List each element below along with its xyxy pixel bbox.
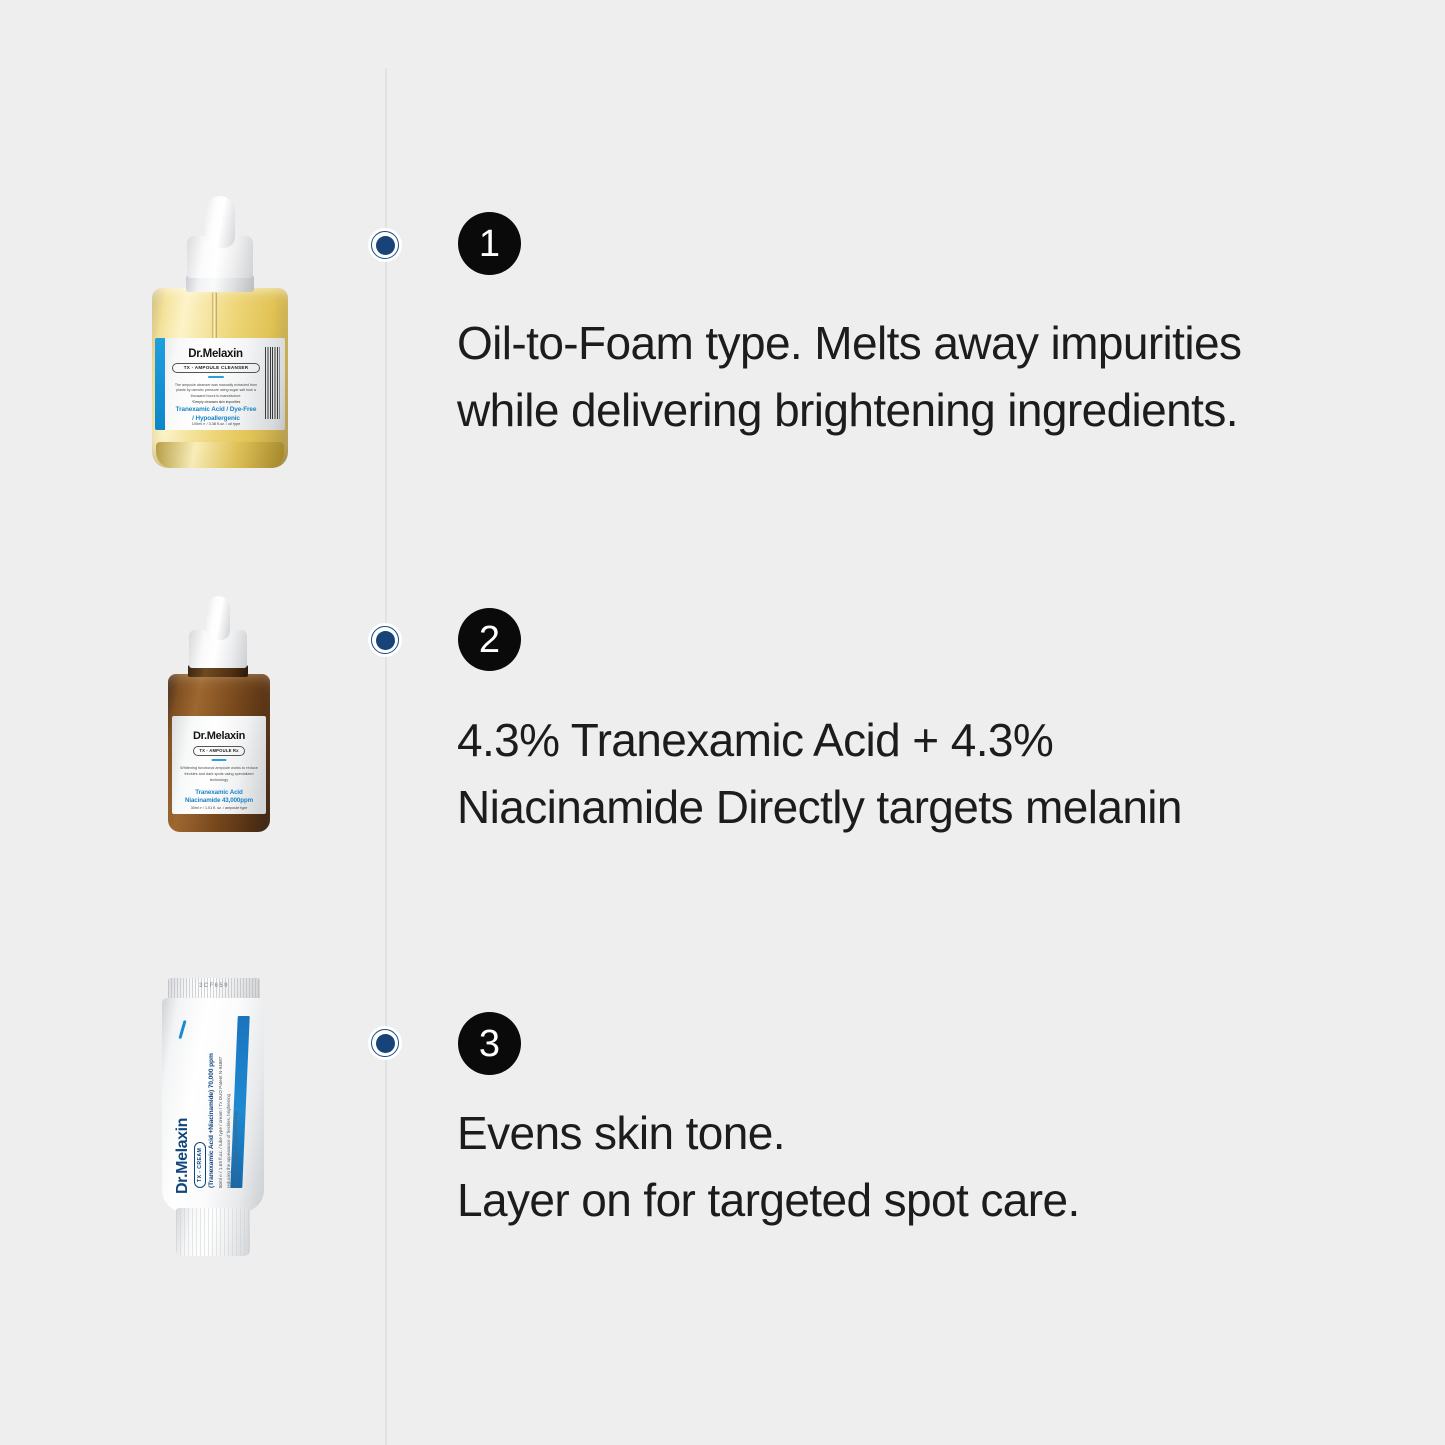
step-description-3: Evens skin tone. Layer on for targeted s… bbox=[457, 1100, 1317, 1233]
timeline-dot-step-2 bbox=[368, 623, 402, 657]
step-description-1: Oil-to-Foam type. Melts away impurities … bbox=[457, 310, 1317, 443]
label-volume: 100ml ℮ / 3.38 fl.oz. / oil type bbox=[171, 422, 261, 426]
tube-batch-code: 3CF659 bbox=[168, 983, 260, 989]
label-description: Whitening functional ampoule works to re… bbox=[180, 766, 258, 784]
label-brand: Dr.Melaxin bbox=[178, 730, 260, 742]
tube-slash-mark bbox=[178, 1020, 186, 1039]
label-claim: Tranexamic Acid Niacinamide 43,000ppm bbox=[177, 789, 261, 806]
product-image-tx-cream: 3CF659 Dr.Melaxin TX - CREAM (Tranexamic… bbox=[158, 978, 268, 1256]
timeline-dot-step-3 bbox=[368, 1026, 402, 1060]
tube-volume: 50ml ℮ / 1.69 fl.oz. / tube type / cream… bbox=[218, 1057, 223, 1188]
tube-product-type: TX - CREAM bbox=[194, 1142, 206, 1188]
timeline-track bbox=[385, 68, 387, 1445]
product-steps-infographic: 1 2 3 Oil-to-Foam type. Melts away impur… bbox=[0, 0, 1445, 1445]
product-label: Dr.Melaxin TX - AMPOULE Rx Whitening fun… bbox=[172, 716, 266, 814]
label-volume: 30ml ℮ / 1.01 fl. oz. / ampoule type bbox=[178, 806, 260, 810]
tube-description-line-1: reducing the appearance of freckles, bri… bbox=[226, 1094, 231, 1188]
tube-cap bbox=[176, 1208, 250, 1256]
label-claim: Tranexamic Acid / Dye-Free / Hypoallerge… bbox=[169, 406, 263, 423]
step-badge-1: 1 bbox=[458, 212, 521, 275]
product-image-tx-ampoule-cleanser: Dr.Melaxin TX - AMPOULE CLEANSER The amp… bbox=[146, 196, 294, 468]
label-brand: Dr.Melaxin bbox=[170, 348, 261, 360]
product-label: Dr.Melaxin TX - AMPOULE CLEANSER The amp… bbox=[155, 338, 285, 430]
step-badge-2: 2 bbox=[458, 608, 521, 671]
label-divider bbox=[212, 759, 227, 761]
tube-description-line-2: dark spots using specialized technology bbox=[233, 1111, 238, 1188]
label-footnote: *Deeply cleanses skin impurities bbox=[171, 400, 261, 404]
label-description: The ampoule cleanser was manually extrac… bbox=[171, 383, 261, 399]
label-product-type: TX - AMPOULE Rx bbox=[193, 746, 245, 756]
label-product-type: TX - AMPOULE CLEANSER bbox=[172, 363, 260, 373]
timeline-dot-core bbox=[376, 1034, 395, 1053]
timeline-dot-step-1 bbox=[368, 228, 402, 262]
label-blue-stripe bbox=[155, 338, 165, 430]
label-divider bbox=[208, 376, 224, 378]
dropper-bulb bbox=[205, 196, 235, 248]
step-badge-3: 3 bbox=[458, 1012, 521, 1075]
timeline-dot-core bbox=[376, 631, 395, 650]
tube-body: Dr.Melaxin TX - CREAM (Tranexamic Acid +… bbox=[162, 998, 264, 1212]
tube-brand: Dr.Melaxin bbox=[174, 1118, 192, 1194]
tube-claim: (Tranexamic Acid +Niacinamide) 70,000 pp… bbox=[208, 1053, 215, 1188]
timeline-dot-core bbox=[376, 236, 395, 255]
dropper-bulb bbox=[206, 596, 230, 640]
product-image-tx-ampoule-rx: Dr.Melaxin TX - AMPOULE Rx Whitening fun… bbox=[163, 596, 275, 832]
tube-crimp: 3CF659 bbox=[168, 978, 260, 1000]
barcode bbox=[265, 347, 280, 419]
step-description-2: 4.3% Tranexamic Acid + 4.3% Niacinamide … bbox=[457, 707, 1317, 840]
bottle-base bbox=[156, 442, 284, 468]
